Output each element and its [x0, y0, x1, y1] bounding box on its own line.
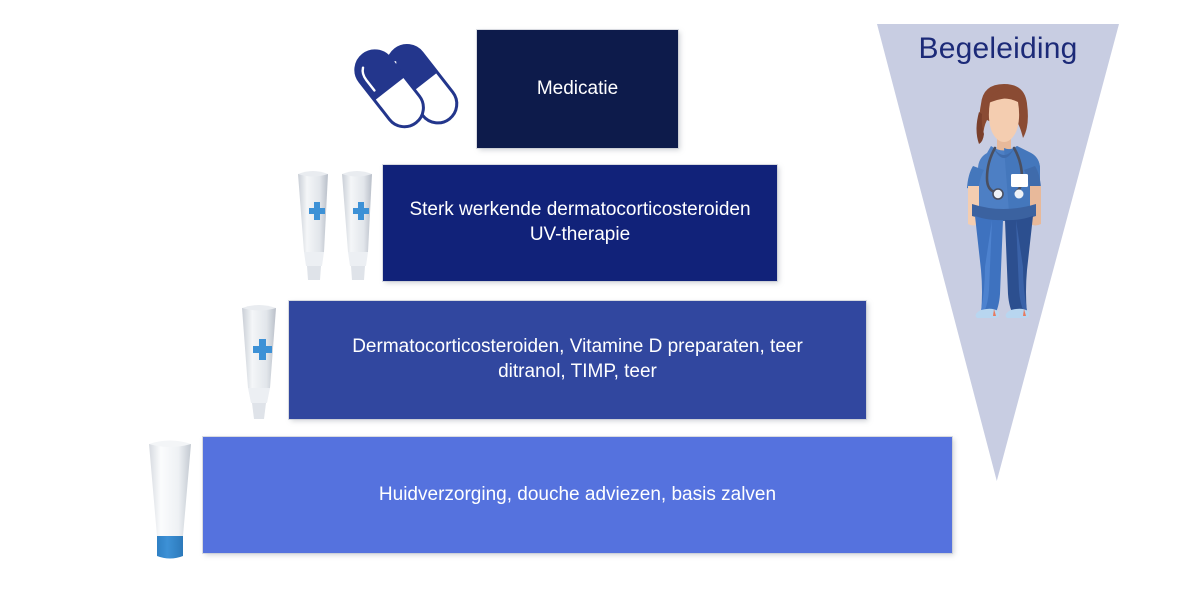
cream-tube-icon: [137, 436, 205, 564]
pyramid-tier-huidverzorging: Huidverzorging, douche adviezen, basis z…: [203, 437, 952, 553]
pyramid-tier-dermatocorticosteroiden-label: Dermatocorticosteroiden, Vitamine D prep…: [338, 335, 817, 384]
pyramid-tier-medicatie: Medicatie: [477, 30, 678, 148]
nurse-illustration: [948, 78, 1060, 343]
two-ointment-tubes-icon: [292, 166, 384, 282]
treatment-pyramid-diagram: Medicatie: [0, 0, 1200, 600]
pyramid-tier-dermatocorticosteroiden: Dermatocorticosteroiden, Vitamine D prep…: [289, 301, 866, 419]
pyramid-tier-huidverzorging-label: Huidverzorging, douche adviezen, basis z…: [365, 483, 790, 508]
pills-icon: [349, 28, 471, 143]
pyramid-tier-medicatie-label: Medicatie: [523, 77, 632, 102]
pyramid-tier-sterk-werkende-label: Sterk werkende dermatocorticosteroiden U…: [395, 198, 764, 247]
support-title: Begeleiding: [877, 32, 1119, 66]
ointment-tube-icon: [233, 302, 289, 420]
pyramid-tier-sterk-werkende: Sterk werkende dermatocorticosteroiden U…: [383, 165, 777, 281]
